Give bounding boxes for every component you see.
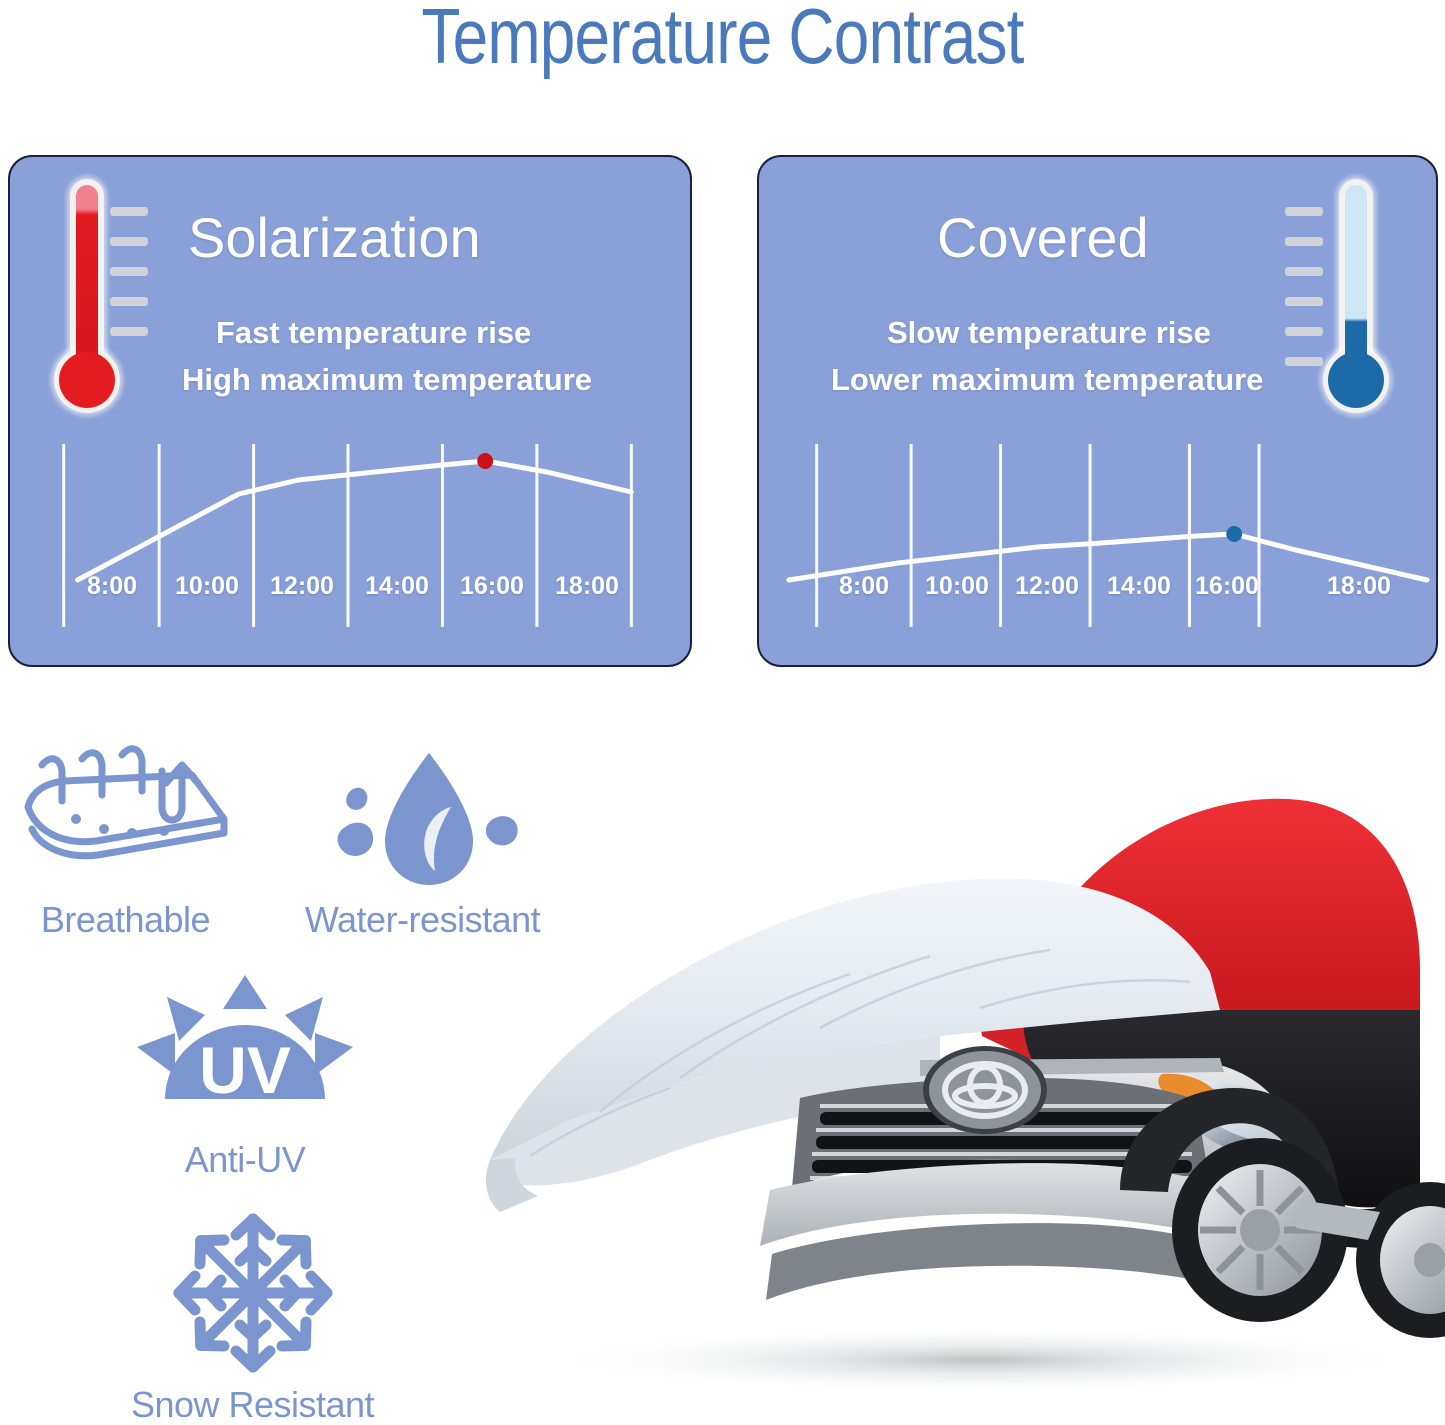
panel-covered: Covered Slow temperature rise Lower maxi… (757, 155, 1438, 667)
car-photo-svg (420, 760, 1445, 1400)
peak-marker (477, 453, 493, 469)
uv-sun-icon: UV (135, 975, 355, 1135)
feature-snow-resistant: Snow Resistant (125, 1205, 380, 1425)
xtick-label: 16:00 (460, 572, 524, 601)
panel-heading-solarization: Solarization (188, 205, 481, 270)
uv-icon-text: UV (199, 1033, 291, 1107)
xtick-label: 10:00 (925, 572, 989, 601)
feature-anti-uv: UV Anti-UV (130, 975, 360, 1181)
panel-heading-covered: Covered (937, 205, 1149, 270)
chart-covered: 8:00 10:00 12:00 14:00 16:00 18:00 (759, 432, 1436, 657)
hot-thermometer-icon (24, 179, 149, 444)
breathable-fabric-icon (16, 745, 236, 895)
toyota-emblem (923, 1046, 1047, 1134)
panel-solarization: Solarization Fast temperature rise High … (8, 155, 692, 667)
feature-label-anti-uv: Anti-UV (130, 1139, 360, 1181)
feature-breathable: Breathable (8, 745, 243, 941)
ground-shadow (540, 1326, 1420, 1394)
panel-sub1-covered: Slow temperature rise (887, 315, 1211, 351)
xtick-label: 12:00 (270, 572, 334, 601)
suv-with-car-cover-photo (420, 760, 1445, 1400)
infographic-page: Temperature Contrast Solarization Fast t… (0, 0, 1445, 1425)
snowflake-icon (163, 1205, 343, 1380)
feature-label-breathable: Breathable (8, 899, 243, 941)
xtick-label: 16:00 (1195, 572, 1259, 601)
xtick-label: 14:00 (365, 572, 429, 601)
feature-label-snow-resistant: Snow Resistant (125, 1384, 380, 1425)
chart-solarization: 8:00 10:00 12:00 14:00 16:00 18:00 (10, 432, 690, 657)
temperature-line (78, 461, 632, 580)
xtick-label: 18:00 (1327, 572, 1391, 601)
peak-marker (1226, 526, 1242, 542)
cold-thermometer-icon (1293, 179, 1418, 444)
xtick-label: 18:00 (555, 572, 619, 601)
panel-sub1-solarization: Fast temperature rise (216, 315, 531, 351)
xtick-label: 14:00 (1107, 572, 1171, 601)
xtick-label: 8:00 (87, 572, 137, 601)
xtick-label: 12:00 (1015, 572, 1079, 601)
xtick-label: 10:00 (175, 572, 239, 601)
panel-sub2-solarization: High maximum temperature (182, 362, 592, 398)
chart-svg-solarization (10, 432, 690, 657)
page-title: Temperature Contrast (130, 0, 1315, 78)
panel-sub2-covered: Lower maximum temperature (831, 362, 1263, 398)
chart-svg-covered (759, 432, 1436, 657)
xtick-label: 8:00 (839, 572, 889, 601)
